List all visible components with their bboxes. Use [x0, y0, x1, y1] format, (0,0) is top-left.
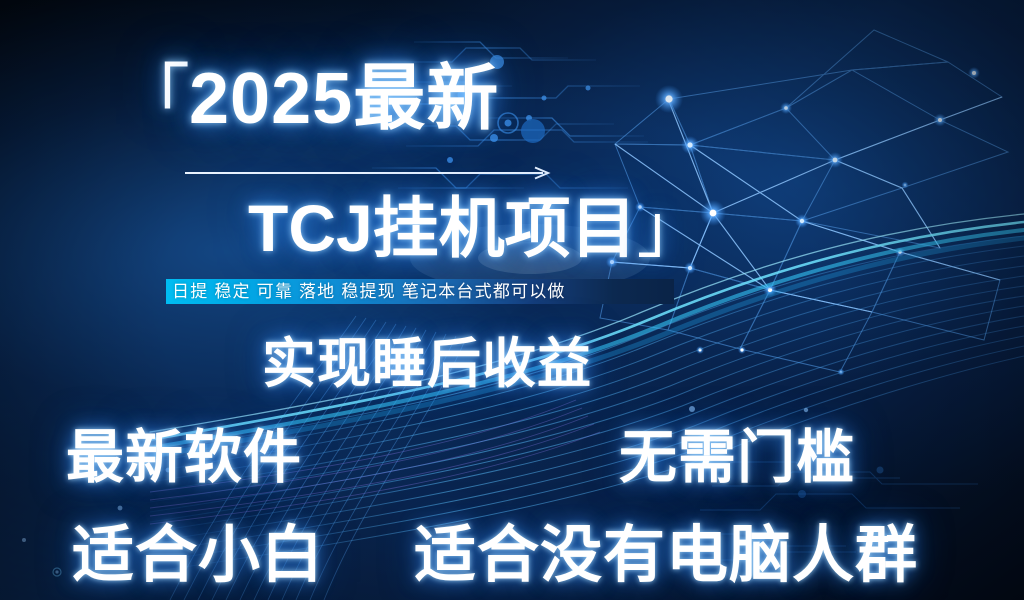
feature-latest-software: 最新软件: [66, 426, 302, 490]
headline-secondary: TCJ挂机项目」: [248, 192, 703, 264]
arrow-divider: [185, 166, 557, 180]
open-bracket-glyph: 「: [118, 59, 189, 139]
close-bracket-glyph: 」: [637, 191, 703, 265]
feature-no-threshold: 无需门槛: [619, 426, 855, 490]
tagline: 实现睡后收益: [262, 334, 592, 394]
headline-secondary-text: TCJ挂机项目: [248, 191, 637, 265]
headline-primary-text: 2025最新: [189, 59, 499, 139]
feature-no-computer: 适合没有电脑人群: [414, 522, 918, 590]
promo-banner: 「2025最新 TCJ挂机项目」 日提 稳定 可靠 落地 稳提现 笔记本台式都可…: [0, 0, 1024, 600]
headline-primary: 「2025最新: [118, 60, 499, 138]
subtitle-text: 日提 稳定 可靠 落地 稳提现 笔记本台式都可以做: [172, 280, 566, 303]
feature-suitable-beginners: 适合小白: [72, 522, 324, 590]
